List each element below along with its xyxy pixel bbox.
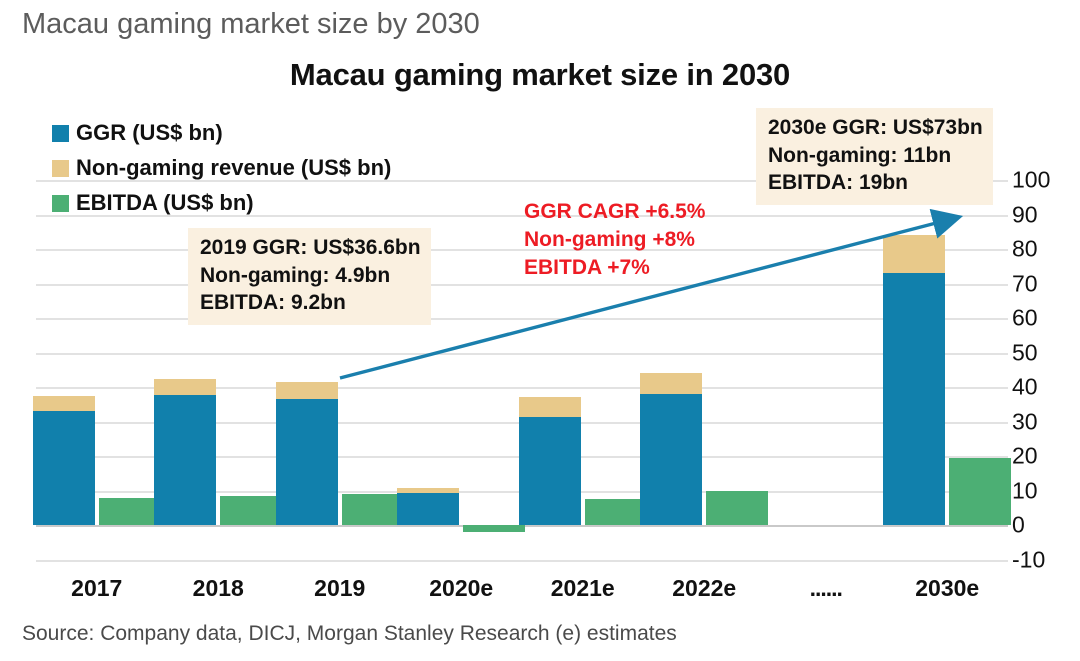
bar-non-gaming <box>397 488 459 492</box>
chart-title: Macau gaming market size in 2030 <box>0 57 1080 93</box>
y-axis-tick-label: 60 <box>1012 305 1038 332</box>
legend-swatch-ebitda <box>52 195 69 212</box>
y-axis-labels: 1009080706050403020100-10 <box>1012 170 1076 570</box>
x-axis-tick-label: 2022e <box>672 575 736 602</box>
x-axis-tick-label: 2030e <box>915 575 979 602</box>
gridline <box>36 318 1008 320</box>
y-axis-tick-label: 20 <box>1012 443 1038 470</box>
callout-2030e-line3: EBITDA: 19bn <box>768 169 983 197</box>
callout-2030e: 2030e GGR: US$73bn Non-gaming: 11bn EBIT… <box>756 108 993 205</box>
bar-non-gaming <box>883 235 945 273</box>
bar-ebitda <box>99 498 161 526</box>
gridline <box>36 249 1008 251</box>
legend-swatch-non-gaming <box>52 160 69 177</box>
callout-2019-line3: EBITDA: 9.2bn <box>200 289 421 317</box>
callout-2019-line2: Non-gaming: 4.9bn <box>200 262 421 290</box>
y-axis-tick-label: 50 <box>1012 339 1038 366</box>
legend-item-ebitda: EBITDA (US$ bn) <box>52 190 391 216</box>
x-axis-labels: 2017201820192020e2021e2022e......2030e <box>36 575 1008 609</box>
x-axis-tick-label: 2017 <box>71 575 122 602</box>
bar-ebitda <box>706 491 768 525</box>
legend-label-non-gaming: Non-gaming revenue (US$ bn) <box>76 155 391 181</box>
chart-legend: GGR (US$ bn) Non-gaming revenue (US$ bn)… <box>52 120 391 225</box>
callout-2030e-line2: Non-gaming: 11bn <box>768 142 983 170</box>
source-note: Source: Company data, DICJ, Morgan Stanl… <box>22 622 677 646</box>
cagr-line-ebitda: EBITDA +7% <box>524 254 705 282</box>
bar-non-gaming <box>33 396 95 411</box>
y-axis-tick-label: 100 <box>1012 167 1050 194</box>
legend-label-ggr: GGR (US$ bn) <box>76 120 223 146</box>
callout-2019: 2019 GGR: US$36.6bn Non-gaming: 4.9bn EB… <box>188 228 431 325</box>
bar-ggr <box>276 399 338 525</box>
chart-plot-area <box>36 170 1008 562</box>
y-axis-tick-label: -10 <box>1012 547 1045 574</box>
x-axis-tick-label: 2021e <box>551 575 615 602</box>
x-axis-tick-label: 2019 <box>314 575 365 602</box>
bar-non-gaming <box>519 397 581 416</box>
cagr-annotation: GGR CAGR +6.5% Non-gaming +8% EBITDA +7% <box>524 198 705 282</box>
page-title: Macau gaming market size by 2030 <box>22 8 480 41</box>
legend-swatch-ggr <box>52 125 69 142</box>
gridline <box>36 353 1008 355</box>
y-axis-tick-label: 30 <box>1012 408 1038 435</box>
gridline <box>36 560 1008 562</box>
cagr-line-non-gaming: Non-gaming +8% <box>524 226 705 254</box>
x-axis-tick-label: 2018 <box>193 575 244 602</box>
bar-ggr <box>883 273 945 525</box>
bar-ebitda <box>463 525 525 532</box>
y-axis-tick-label: 80 <box>1012 236 1038 263</box>
y-axis-tick-label: 40 <box>1012 374 1038 401</box>
bar-ebitda <box>949 458 1011 525</box>
callout-2019-line1: 2019 GGR: US$36.6bn <box>200 234 421 262</box>
bar-ebitda <box>220 496 282 526</box>
bar-ggr <box>397 493 459 526</box>
bar-ggr <box>33 411 95 526</box>
bar-ebitda <box>585 499 647 526</box>
bar-ggr <box>640 394 702 525</box>
y-axis-tick-label: 10 <box>1012 477 1038 504</box>
x-axis-tick-label: ...... <box>810 575 842 602</box>
legend-label-ebitda: EBITDA (US$ bn) <box>76 190 254 216</box>
legend-item-non-gaming: Non-gaming revenue (US$ bn) <box>52 155 391 181</box>
gridline <box>36 284 1008 286</box>
bar-ggr <box>519 417 581 526</box>
legend-item-ggr: GGR (US$ bn) <box>52 120 391 146</box>
y-axis-tick-label: 90 <box>1012 201 1038 228</box>
x-axis-tick-label: 2020e <box>429 575 493 602</box>
y-axis-tick-label: 70 <box>1012 270 1038 297</box>
bar-non-gaming <box>640 373 702 394</box>
callout-2030e-line1: 2030e GGR: US$73bn <box>768 114 983 142</box>
bar-ggr <box>154 395 216 526</box>
cagr-line-ggr: GGR CAGR +6.5% <box>524 198 705 226</box>
y-axis-tick-label: 0 <box>1012 512 1025 539</box>
bar-non-gaming <box>276 382 338 399</box>
bar-non-gaming <box>154 379 216 395</box>
bar-ebitda <box>342 494 404 526</box>
